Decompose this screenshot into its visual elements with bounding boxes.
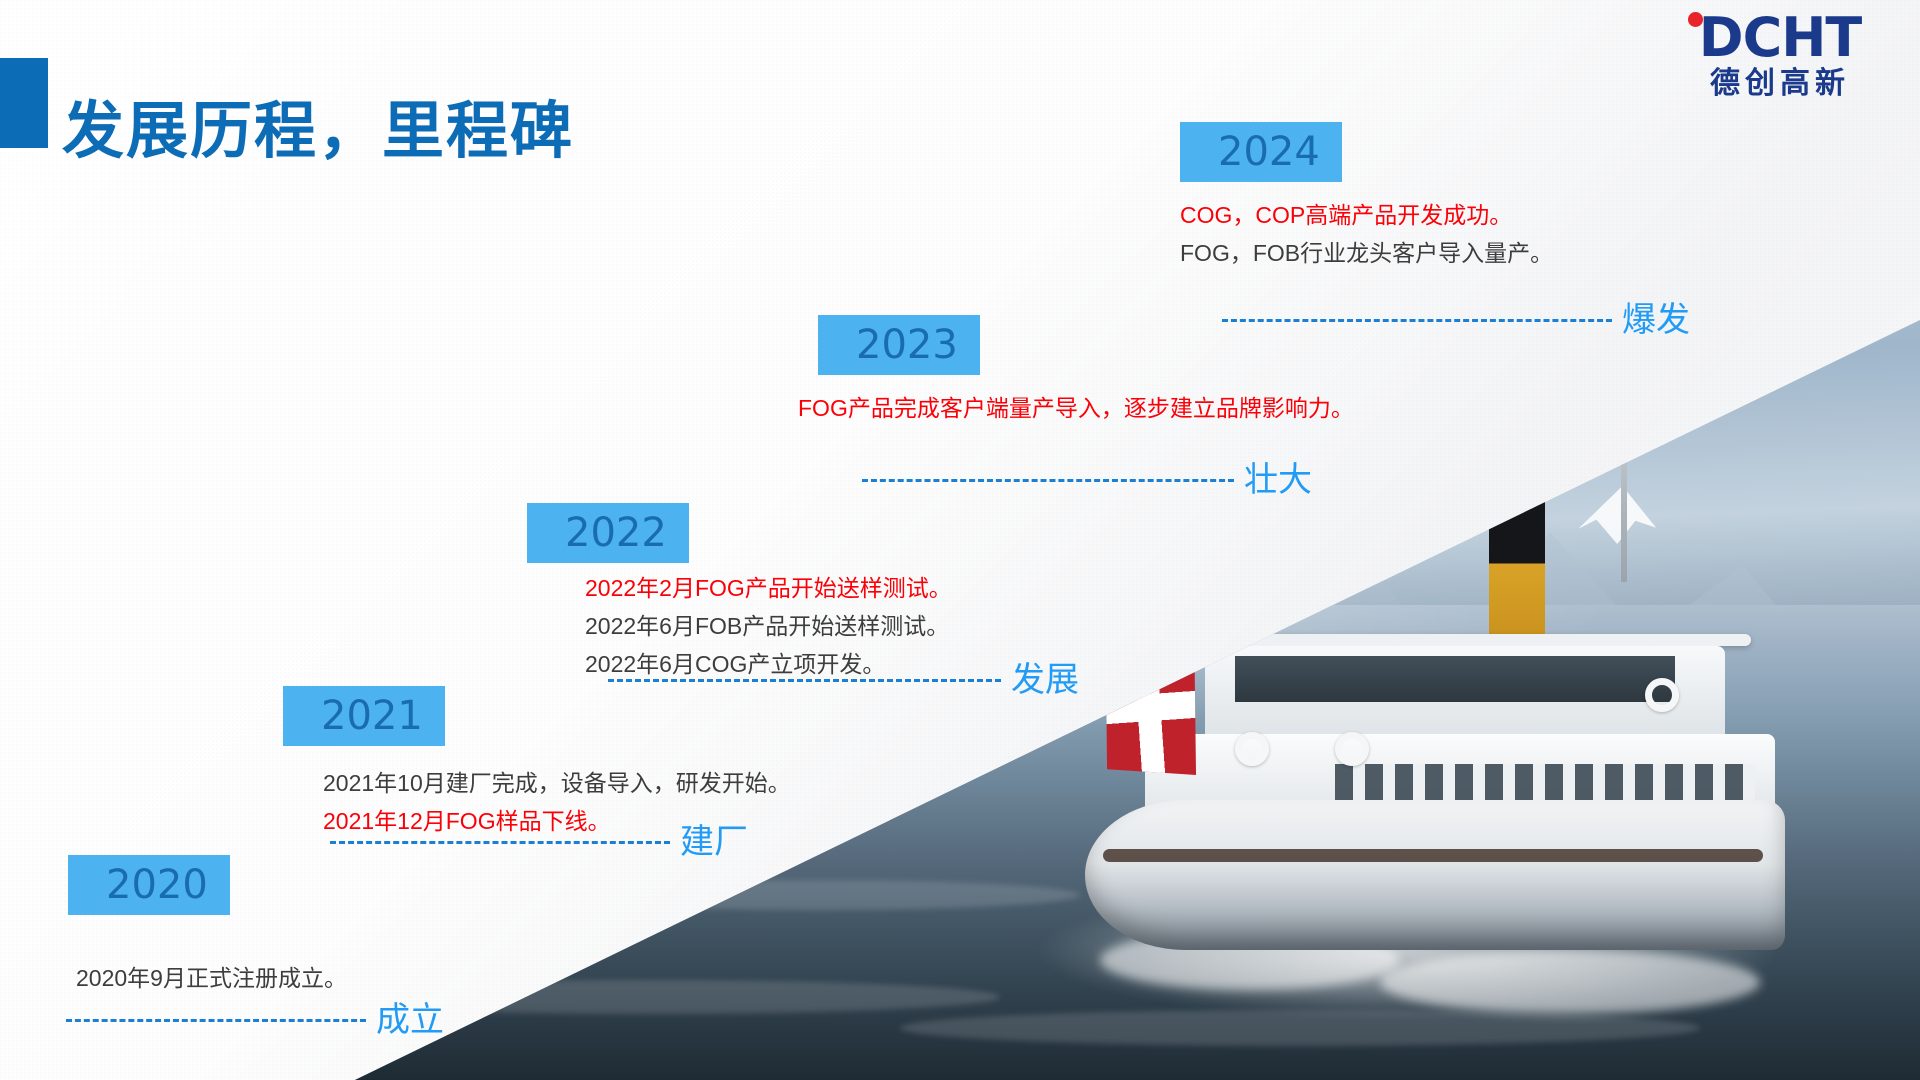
boat-hull [1085,800,1785,950]
logo-wordmark: DCHT [1674,10,1886,66]
stage-label-2021: 建厂 [680,822,748,862]
year-badge-2022[interactable]: 2022 [527,503,689,563]
life-ring-1 [1235,732,1269,766]
milestone-2023: 2023 FOG产品完成客户端量产导入，逐步建立品牌影响力。 [818,315,1354,427]
title-accent-bar [0,58,48,148]
milestone-2022: 2022 2022年2月FOG产品开始送样测试。 2022年6月FOB产品开始送… [527,503,952,683]
life-ring-2 [1335,732,1369,766]
connector-2020: 成立 [66,1000,444,1040]
milestone-line: 2022年6月FOB产品开始送样测试。 [585,607,952,645]
stage-label-2022: 发展 [1011,660,1079,700]
milestone-line: FOG，FOB行业龙头客户导入量产。 [1180,234,1553,272]
hull-stripe [1103,849,1763,862]
milestone-2021: 2021 2021年10月建厂完成，设备导入，研发开始。 2021年12月FOG… [283,686,791,840]
page-title: 发展历程，里程碑 [62,80,574,170]
milestone-line: 2020年9月正式注册成立。 [76,959,347,997]
milestone-line: COG，COP高端产品开发成功。 [1180,196,1553,234]
logo-dot-icon [1688,12,1703,27]
connector-dash-2020 [66,1019,366,1022]
connector-dash-2022 [608,679,1001,682]
logo-mark-text: DCHT [1699,6,1861,69]
connector-dash-2021 [330,841,670,844]
milestone-line: FOG产品完成客户端量产导入，逐步建立品牌影响力。 [798,389,1354,427]
connector-2023: 壮大 [862,460,1312,500]
milestone-2023-lines: FOG产品完成客户端量产导入，逐步建立品牌影响力。 [818,389,1354,427]
stage-label-2023: 壮大 [1244,460,1312,500]
slide-canvas: 发展历程，里程碑 DCHT 德创高新 2024 COG，COP高端产品开发成功。… [0,0,1920,1080]
year-badge-2023[interactable]: 2023 [818,315,980,375]
connector-dash-2023 [862,479,1234,482]
paddle-steamer-boat [1085,620,1805,980]
connector-2021: 建厂 [330,822,748,862]
year-badge-2020[interactable]: 2020 [68,855,230,915]
milestone-line: 2021年10月建厂完成，设备导入，研发开始。 [323,764,791,802]
milestone-2020-lines: 2020年9月正式注册成立。 [76,959,347,997]
milestone-2024-lines: COG，COP高端产品开发成功。 FOG，FOB行业龙头客户导入量产。 [1180,196,1553,272]
milestone-2020: 2020 2020年9月正式注册成立。 [68,855,347,997]
milestone-2024: 2024 COG，COP高端产品开发成功。 FOG，FOB行业龙头客户导入量产。 [1180,122,1553,272]
milestone-line: 2022年2月FOG产品开始送样测试。 [585,569,952,607]
company-logo: DCHT 德创高新 [1674,10,1886,106]
year-badge-2024[interactable]: 2024 [1180,122,1342,182]
logo-chinese-name: 德创高新 [1674,66,1886,102]
stage-label-2024: 爆发 [1622,300,1690,340]
cabin-windows [1235,656,1675,702]
year-badge-2021[interactable]: 2021 [283,686,445,746]
stage-label-2020: 成立 [376,1000,444,1040]
life-ring-3 [1645,678,1679,712]
